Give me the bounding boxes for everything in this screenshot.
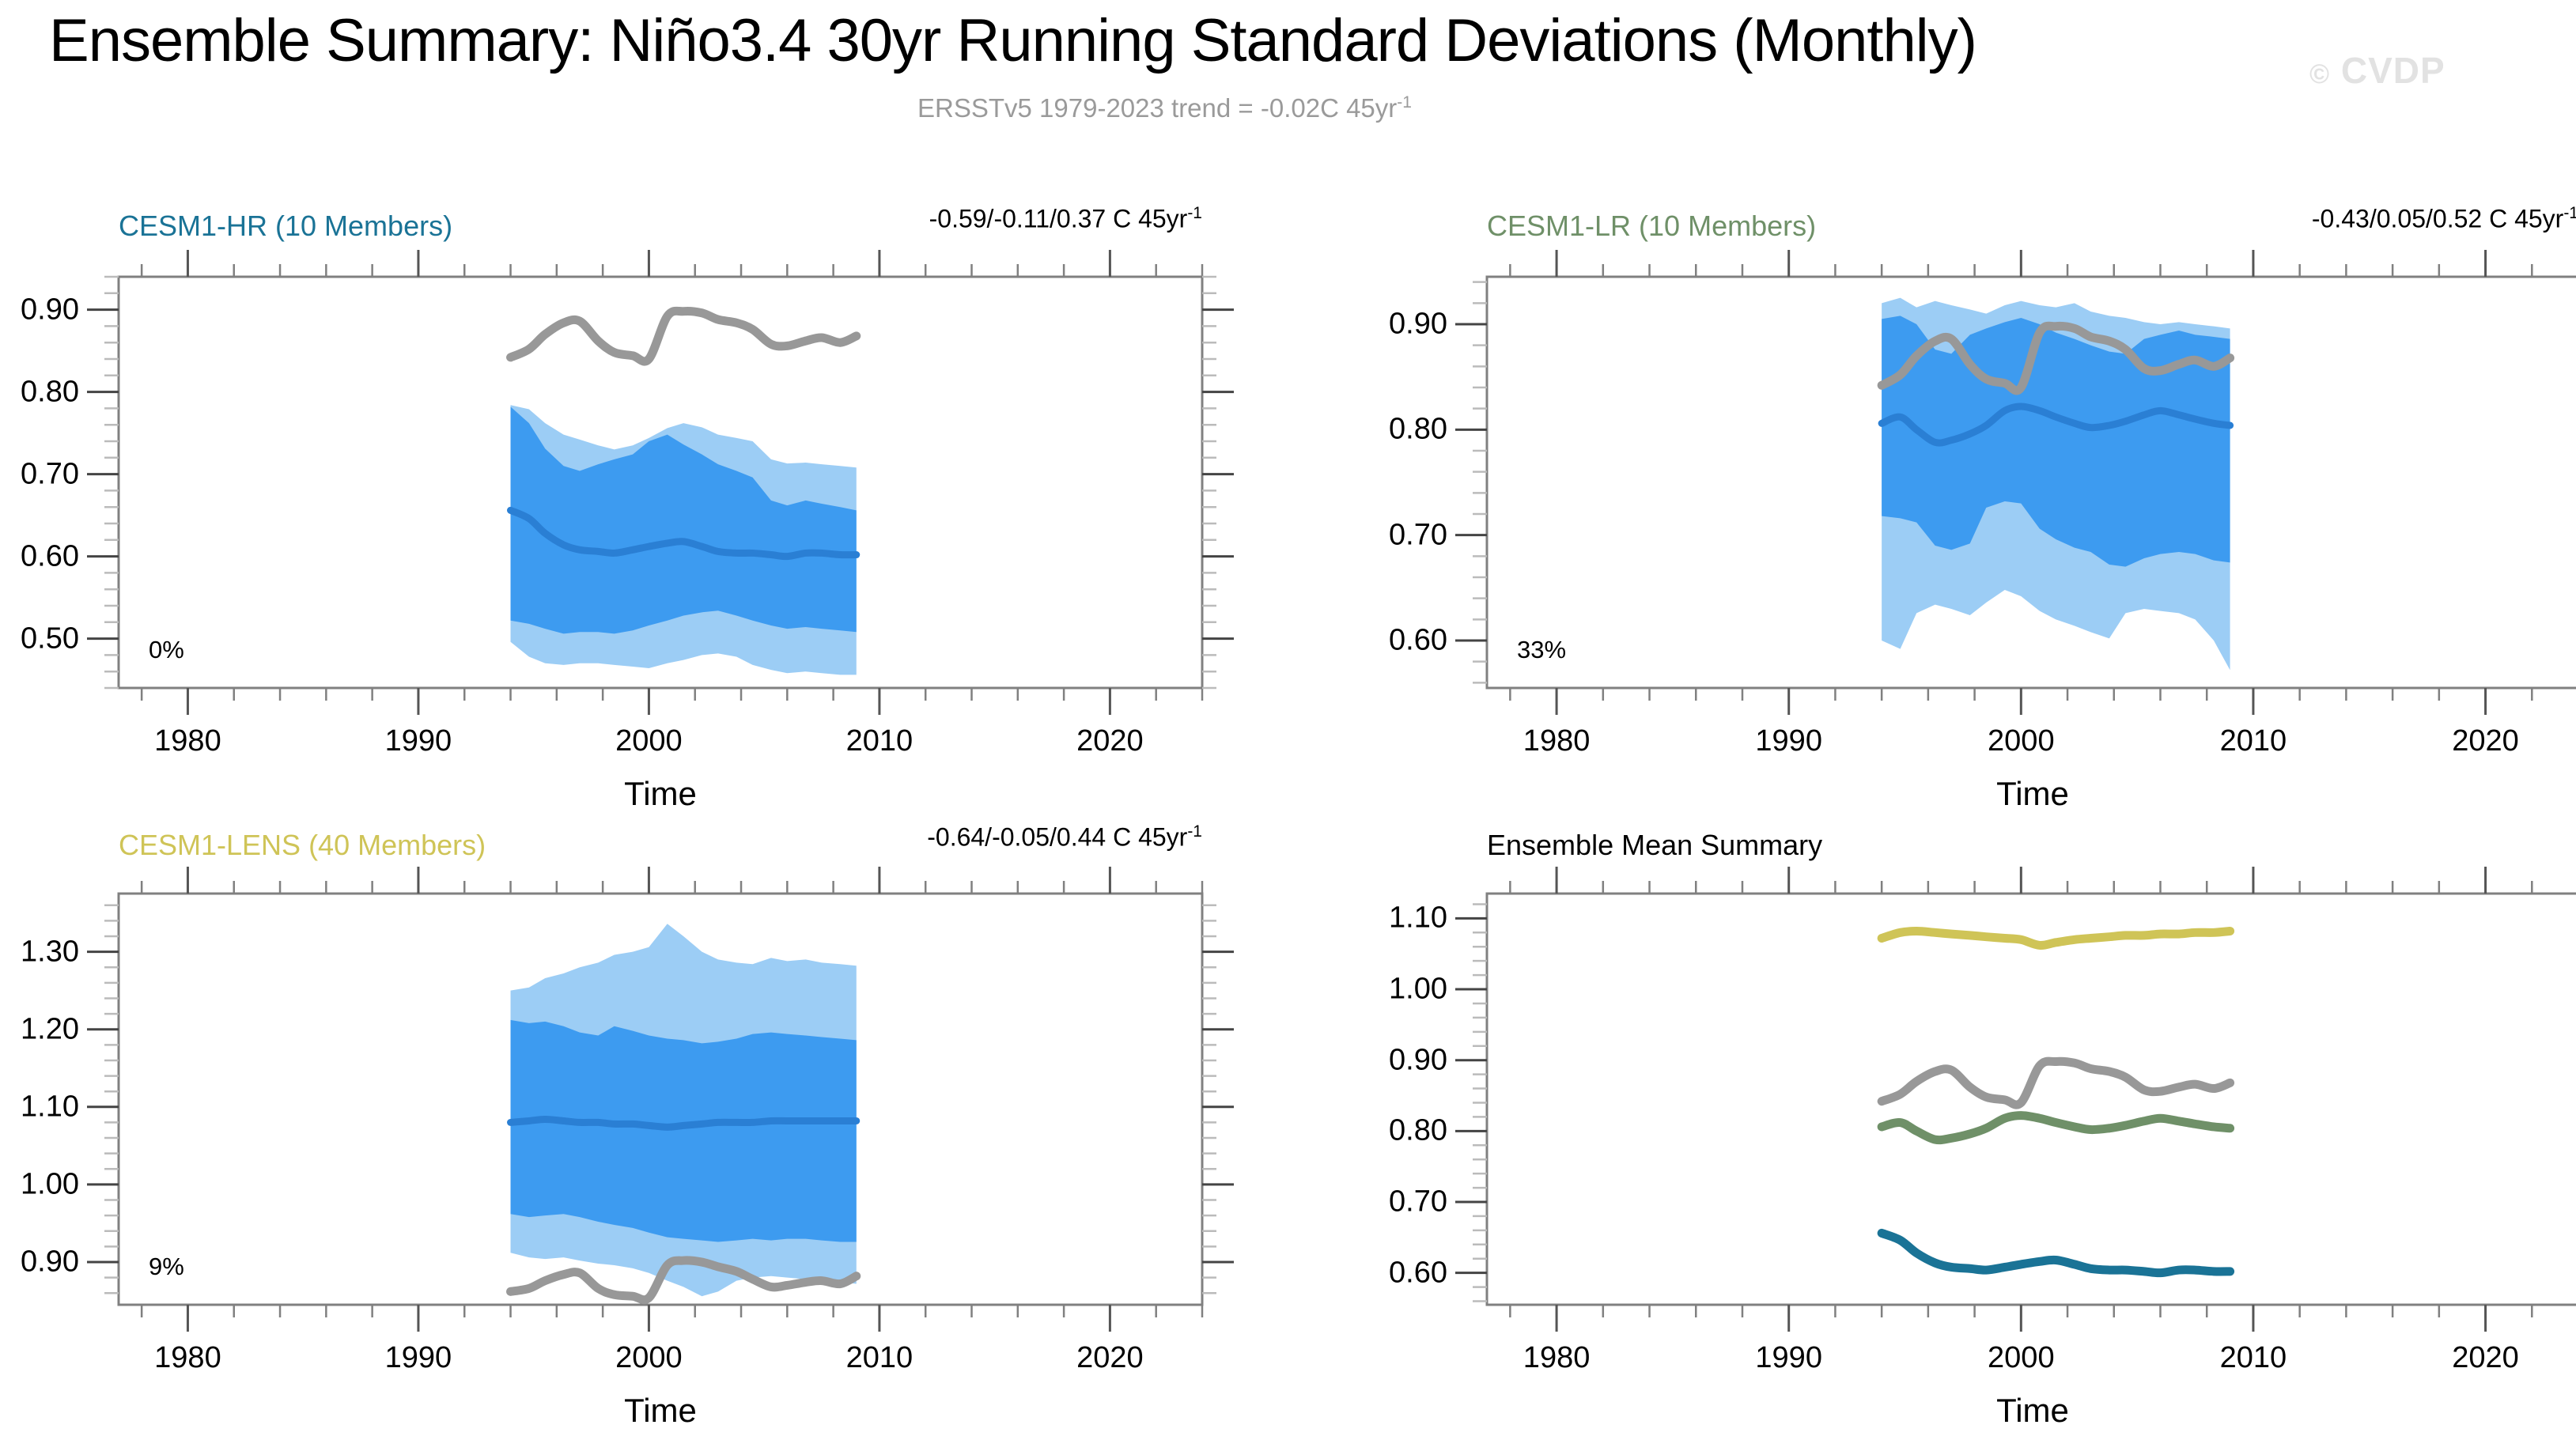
y-tick-label: 0.80 (1368, 1114, 1447, 1148)
y-tick-label: 0.70 (1368, 1185, 1447, 1219)
x-tick-label: 2020 (2452, 1341, 2519, 1375)
y-tick-label: 1.00 (1368, 973, 1447, 1007)
x-tick-label: 2000 (1988, 1341, 2055, 1375)
mean-line-cesm1-lr (1882, 1116, 2230, 1140)
x-tick-label: 2010 (2220, 1341, 2287, 1375)
x-axis-label: Time (1487, 1392, 2576, 1430)
y-tick-label: 0.90 (1368, 1043, 1447, 1077)
mean-line-cesm1-lens (1882, 932, 2230, 946)
y-tick-label: 1.10 (1368, 901, 1447, 935)
mean-line-cesm1-hr (1882, 1233, 2230, 1272)
mean-line-observations (1882, 1061, 2230, 1105)
x-tick-label: 1990 (1755, 1341, 1822, 1375)
figure-canvas: Ensemble Summary: Niño3.4 30yr Running S… (0, 0, 2576, 1455)
plot-ensemble-mean-summary (1439, 846, 2576, 1352)
y-tick-label: 0.60 (1368, 1256, 1447, 1290)
x-tick-label: 1980 (1523, 1341, 1591, 1375)
plot-frame (1487, 894, 2576, 1305)
panel-ensemble-mean-summary: Ensemble Mean Summary1980199020002010202… (0, 0, 2576, 1455)
